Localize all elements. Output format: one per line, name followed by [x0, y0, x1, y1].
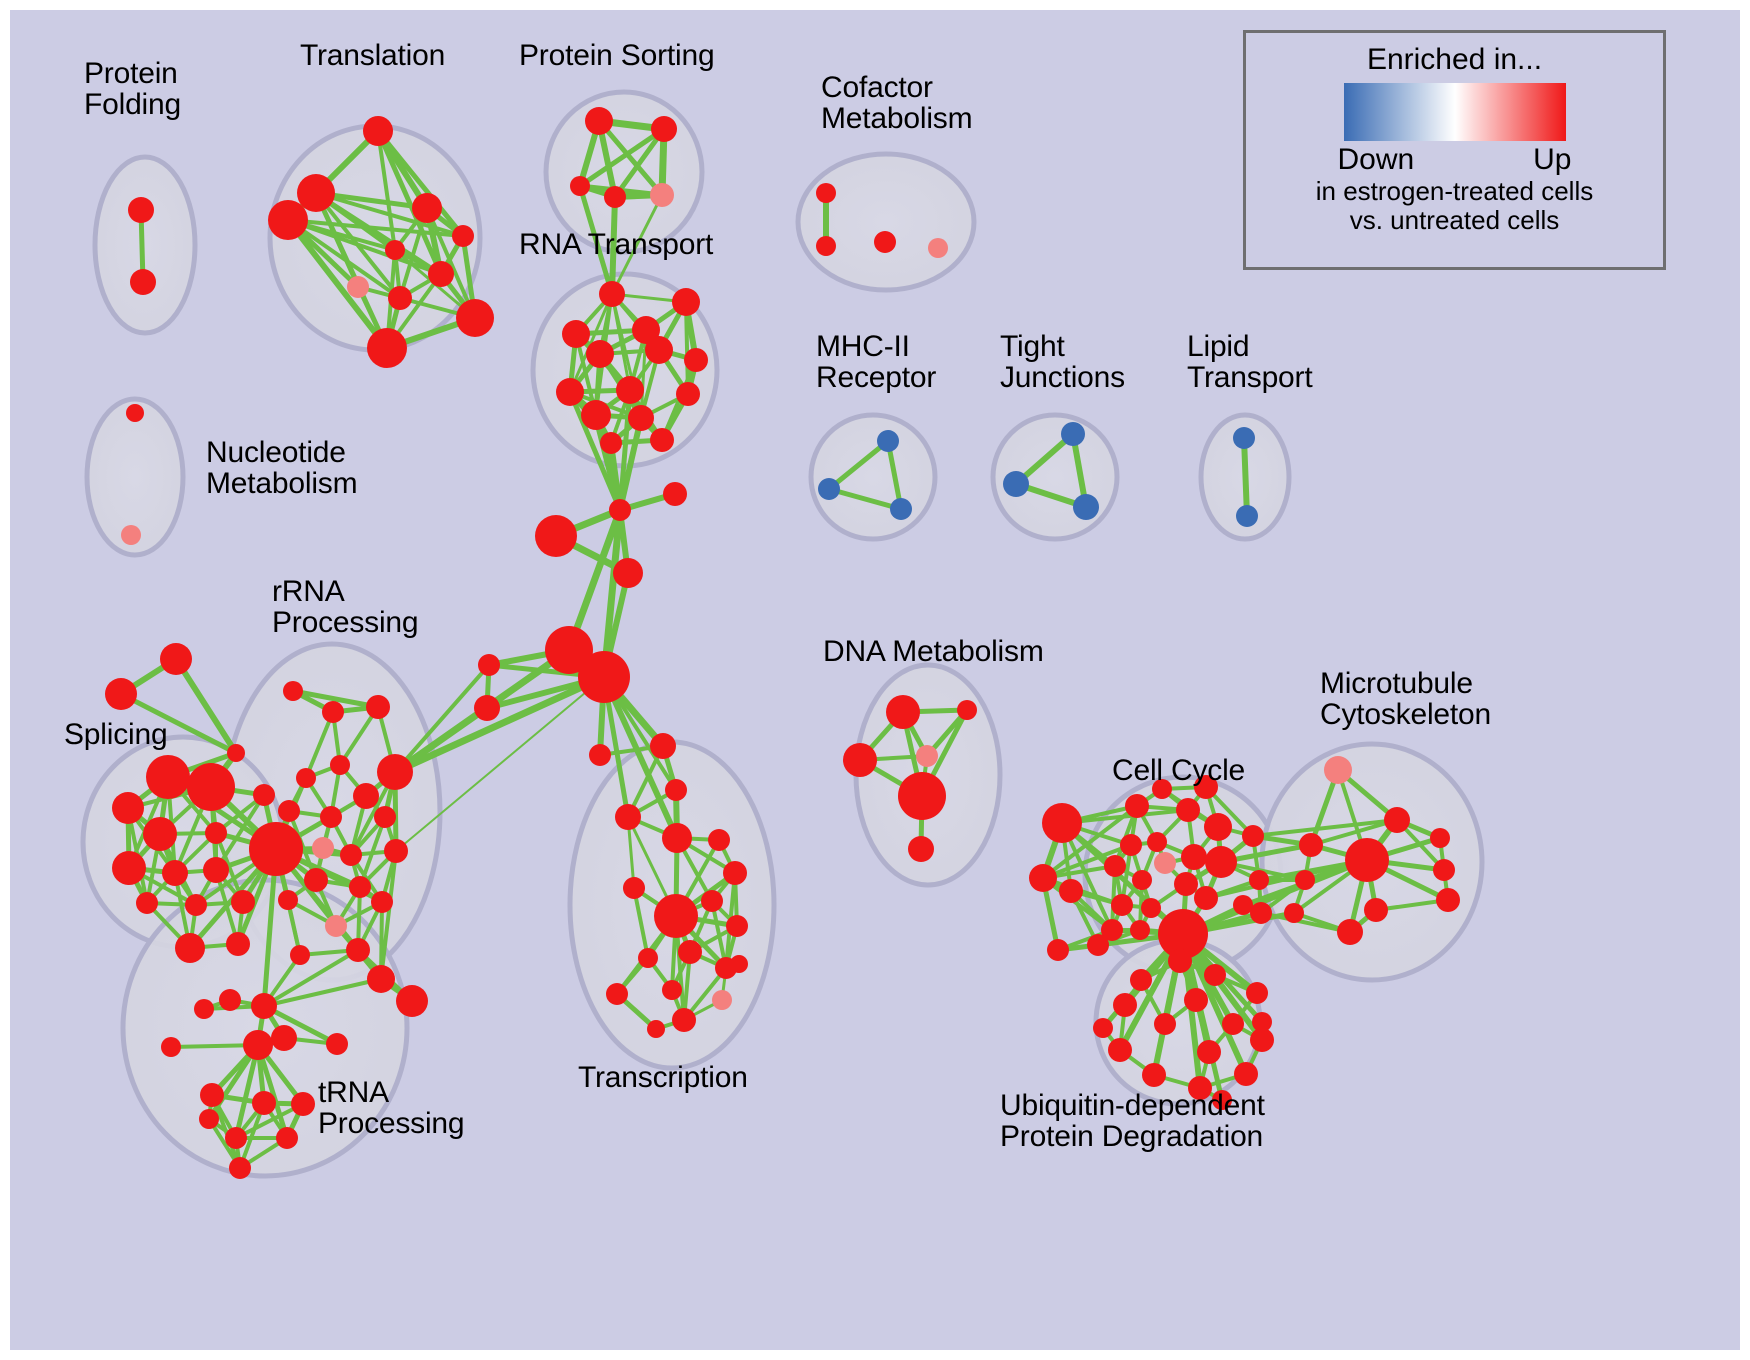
network-node[interactable]	[126, 404, 144, 422]
cluster-label-protein-sorting: Protein Sorting	[519, 40, 714, 71]
network-node[interactable]	[650, 183, 674, 207]
network-node[interactable]	[1181, 844, 1207, 870]
network-node[interactable]	[585, 107, 613, 135]
network-node[interactable]	[340, 844, 362, 866]
network-node[interactable]	[385, 240, 405, 260]
network-node[interactable]	[160, 643, 192, 675]
network-node[interactable]	[647, 1020, 665, 1038]
network-node[interactable]	[1003, 471, 1029, 497]
network-node[interactable]	[1204, 813, 1232, 841]
network-node[interactable]	[654, 894, 698, 938]
network-node[interactable]	[874, 231, 896, 253]
legend-subtitle-line2: vs. untreated cells	[1262, 206, 1647, 235]
network-node[interactable]	[1174, 872, 1198, 896]
network-node[interactable]	[1324, 756, 1352, 784]
network-node[interactable]	[1250, 902, 1272, 924]
network-node[interactable]	[278, 800, 300, 822]
network-node[interactable]	[194, 999, 214, 1019]
network-node[interactable]	[1233, 427, 1255, 449]
network-node[interactable]	[304, 868, 328, 892]
network-node[interactable]	[589, 744, 611, 766]
network-node[interactable]	[290, 945, 310, 965]
network-node[interactable]	[1113, 993, 1137, 1017]
network-node[interactable]	[452, 225, 474, 247]
network-node[interactable]	[1194, 886, 1218, 910]
network-node[interactable]	[1132, 870, 1152, 890]
network-node[interactable]	[562, 320, 590, 348]
network-node[interactable]	[388, 286, 412, 310]
network-node[interactable]	[1295, 870, 1315, 890]
network-node[interactable]	[130, 269, 156, 295]
network-node[interactable]	[231, 890, 255, 914]
cluster-label-cell-cycle: Cell Cycle	[1112, 755, 1245, 786]
legend-high-label: Up	[1533, 143, 1571, 177]
network-node[interactable]	[1430, 828, 1450, 848]
network-node[interactable]	[243, 1030, 273, 1060]
network-node[interactable]	[200, 1083, 224, 1107]
network-node[interactable]	[816, 183, 836, 203]
network-node[interactable]	[271, 1025, 297, 1051]
network-node[interactable]	[363, 116, 393, 146]
network-node[interactable]	[606, 983, 628, 1005]
network-node[interactable]	[366, 695, 390, 719]
network-node[interactable]	[1154, 1013, 1176, 1035]
network-node[interactable]	[1111, 894, 1133, 916]
network-node[interactable]	[252, 1091, 276, 1115]
network-node[interactable]	[645, 336, 673, 364]
network-node[interactable]	[456, 299, 494, 337]
network-node[interactable]	[604, 186, 626, 208]
network-node[interactable]	[623, 877, 645, 899]
network-node[interactable]	[1205, 846, 1237, 878]
network-node[interactable]	[712, 990, 732, 1010]
network-node[interactable]	[268, 200, 308, 240]
network-node[interactable]	[175, 933, 205, 963]
network-node[interactable]	[957, 700, 977, 720]
network-node[interactable]	[205, 822, 227, 844]
network-node[interactable]	[665, 779, 687, 801]
network-node[interactable]	[251, 993, 277, 1019]
network-node[interactable]	[1147, 832, 1167, 852]
network-node[interactable]	[371, 891, 393, 913]
network-node[interactable]	[1252, 1012, 1272, 1032]
network-node[interactable]	[672, 288, 700, 316]
network-node[interactable]	[296, 768, 316, 788]
legend-panel: Enriched in... Down Up in estrogen-treat…	[1243, 30, 1666, 270]
network-node[interactable]	[916, 745, 938, 767]
cluster-hull-protein-folding	[95, 157, 195, 333]
network-node[interactable]	[225, 1127, 247, 1149]
cluster-label-trna-processing: tRNA Processing	[318, 1077, 464, 1139]
network-node[interactable]	[1042, 803, 1082, 843]
network-node[interactable]	[586, 340, 614, 368]
network-node[interactable]	[616, 376, 644, 404]
network-node[interactable]	[1130, 920, 1150, 940]
cluster-label-protein-folding: Protein Folding	[84, 58, 181, 120]
network-node[interactable]	[367, 965, 395, 993]
network-node[interactable]	[908, 836, 934, 862]
network-node[interactable]	[384, 839, 408, 863]
network-node[interactable]	[136, 892, 158, 914]
cluster-label-translation: Translation	[300, 40, 445, 71]
network-node[interactable]	[1233, 895, 1253, 915]
network-edge	[1244, 438, 1247, 516]
network-node[interactable]	[701, 890, 723, 912]
network-node[interactable]	[219, 989, 241, 1011]
legend-subtitle-line1: in estrogen-treated cells	[1262, 177, 1647, 206]
network-node[interactable]	[650, 428, 674, 452]
network-node[interactable]	[297, 174, 335, 212]
network-node[interactable]	[1284, 903, 1304, 923]
network-node[interactable]	[1125, 794, 1149, 818]
network-node[interactable]	[599, 281, 625, 307]
network-node[interactable]	[1197, 1040, 1221, 1064]
network-node[interactable]	[353, 783, 379, 809]
network-node[interactable]	[1087, 934, 1109, 956]
network-node[interactable]	[112, 851, 146, 885]
network-node[interactable]	[199, 1109, 219, 1129]
cluster-label-dna-metabolism: DNA Metabolism	[823, 636, 1044, 667]
network-node[interactable]	[374, 806, 396, 828]
network-node[interactable]	[278, 890, 298, 910]
network-node[interactable]	[229, 1157, 251, 1179]
network-node[interactable]	[726, 915, 748, 937]
network-node[interactable]	[1104, 855, 1126, 877]
network-node[interactable]	[377, 754, 413, 790]
cluster-label-transcription: Transcription	[578, 1062, 748, 1093]
network-node[interactable]	[1236, 505, 1258, 527]
cluster-label-cofactor-metabolism: Cofactor Metabolism	[821, 72, 972, 134]
network-node[interactable]	[1061, 422, 1085, 446]
network-node[interactable]	[1234, 1062, 1258, 1086]
network-node[interactable]	[1168, 949, 1192, 973]
network-node[interactable]	[730, 955, 748, 973]
network-node[interactable]	[1384, 807, 1410, 833]
network-node[interactable]	[1108, 1038, 1132, 1062]
network-node[interactable]	[684, 348, 708, 372]
legend-low-label: Down	[1338, 143, 1415, 177]
network-node[interactable]	[1130, 969, 1152, 991]
network-node[interactable]	[1073, 494, 1099, 520]
network-node[interactable]	[325, 915, 347, 937]
network-node[interactable]	[1141, 898, 1161, 918]
legend-colorbar	[1344, 83, 1566, 141]
network-node[interactable]	[1249, 870, 1269, 890]
network-node[interactable]	[1436, 888, 1460, 912]
network-node[interactable]	[581, 400, 611, 430]
network-node[interactable]	[928, 238, 948, 258]
network-node[interactable]	[1176, 798, 1200, 822]
network-node[interactable]	[1299, 833, 1323, 857]
network-node[interactable]	[678, 940, 702, 964]
cluster-label-splicing: Splicing	[64, 719, 167, 750]
cluster-label-mhc-ii-receptor: MHC-II Receptor	[816, 331, 936, 393]
network-node[interactable]	[708, 829, 730, 851]
network-node[interactable]	[818, 478, 840, 500]
network-node[interactable]	[662, 823, 692, 853]
network-node[interactable]	[121, 525, 141, 545]
network-node[interactable]	[1154, 852, 1176, 874]
network-node[interactable]	[662, 980, 682, 1000]
network-node[interactable]	[1345, 838, 1389, 882]
network-node[interactable]	[843, 743, 877, 777]
network-node[interactable]	[1184, 988, 1208, 1012]
network-node[interactable]	[330, 755, 350, 775]
network-node[interactable]	[249, 822, 303, 876]
network-node[interactable]	[349, 876, 371, 898]
cluster-label-ubiquitin-degradation: Ubiquitin-dependent Protein Degradation	[1000, 1090, 1265, 1152]
network-node[interactable]	[650, 733, 676, 759]
network-node[interactable]	[326, 1033, 348, 1055]
network-node[interactable]	[723, 861, 747, 885]
network-node[interactable]	[1337, 919, 1363, 945]
network-node[interactable]	[276, 1127, 298, 1149]
network-node[interactable]	[143, 817, 177, 851]
network-node[interactable]	[898, 772, 946, 820]
network-node[interactable]	[428, 261, 454, 287]
network-node[interactable]	[1222, 1013, 1244, 1035]
network-node[interactable]	[578, 651, 630, 703]
cluster-label-rrna-processing: rRNA Processing	[272, 576, 418, 638]
network-node[interactable]	[1047, 939, 1069, 961]
network-node[interactable]	[609, 499, 631, 521]
network-node[interactable]	[651, 116, 677, 142]
network-node[interactable]	[628, 405, 654, 431]
network-node[interactable]	[1246, 982, 1268, 1004]
cluster-label-microtubule-cytoskeleton: Microtubule Cytoskeleton	[1320, 668, 1491, 730]
network-node[interactable]	[1120, 834, 1142, 856]
network-node[interactable]	[396, 985, 428, 1017]
network-node[interactable]	[877, 430, 899, 452]
network-node[interactable]	[161, 1037, 181, 1057]
network-node[interactable]	[615, 804, 641, 830]
network-node[interactable]	[185, 894, 207, 916]
network-node[interactable]	[556, 378, 584, 406]
legend-title: Enriched in...	[1262, 43, 1647, 77]
network-node[interactable]	[886, 695, 920, 729]
network-node[interactable]	[1204, 964, 1226, 986]
network-node[interactable]	[570, 176, 590, 196]
figure-canvas: Protein FoldingTranslationProtein Sortin…	[0, 0, 1750, 1360]
network-node[interactable]	[187, 763, 235, 811]
cluster-label-rna-transport: RNA Transport	[519, 229, 713, 260]
network-node[interactable]	[312, 837, 334, 859]
network-node[interactable]	[112, 792, 144, 824]
network-node[interactable]	[816, 236, 836, 256]
network-node[interactable]	[412, 193, 442, 223]
cluster-label-nucleotide-metabolism: Nucleotide Metabolism	[206, 437, 357, 499]
network-node[interactable]	[105, 678, 137, 710]
network-node[interactable]	[227, 744, 245, 762]
cluster-label-lipid-transport: Lipid Transport	[1187, 331, 1312, 393]
network-node[interactable]	[474, 695, 500, 721]
network-node[interactable]	[320, 806, 342, 828]
network-node[interactable]	[283, 681, 303, 701]
network-node[interactable]	[1364, 898, 1388, 922]
network-node[interactable]	[1242, 825, 1264, 847]
network-node[interactable]	[291, 1092, 315, 1116]
network-node[interactable]	[600, 432, 622, 454]
network-node[interactable]	[478, 654, 500, 676]
network-node[interactable]	[613, 558, 643, 588]
network-node[interactable]	[1433, 859, 1455, 881]
network-node[interactable]	[347, 276, 369, 298]
cluster-label-tight-junctions: Tight Junctions	[1000, 331, 1125, 393]
network-node[interactable]	[1142, 1063, 1166, 1087]
network-node[interactable]	[162, 860, 188, 886]
network-node[interactable]	[253, 784, 275, 806]
network-node[interactable]	[890, 498, 912, 520]
network-node[interactable]	[1059, 879, 1083, 903]
network-node[interactable]	[1093, 1018, 1113, 1038]
network-node[interactable]	[535, 515, 577, 557]
network-node[interactable]	[128, 197, 154, 223]
network-node[interactable]	[663, 482, 687, 506]
network-node[interactable]	[672, 1008, 696, 1032]
cluster-hull-mhc-ii-receptor	[811, 415, 935, 539]
network-node[interactable]	[226, 932, 250, 956]
network-node[interactable]	[1029, 864, 1057, 892]
network-node[interactable]	[638, 948, 658, 968]
network-node[interactable]	[146, 755, 190, 799]
network-node[interactable]	[322, 701, 344, 723]
network-node[interactable]	[203, 857, 229, 883]
network-node[interactable]	[346, 938, 370, 962]
network-node[interactable]	[367, 328, 407, 368]
network-node[interactable]	[676, 382, 700, 406]
